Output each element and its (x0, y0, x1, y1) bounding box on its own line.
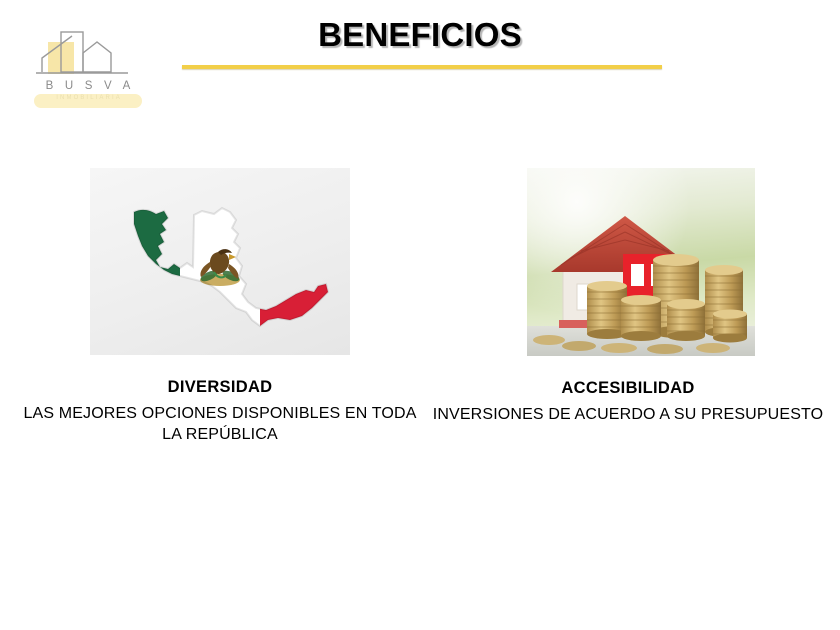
caption-body-diversidad: LAS MEJORES OPCIONES DISPONIBLES EN TODA… (22, 403, 418, 446)
busva-tagline-highlight: INMOBILIARIA (34, 94, 142, 108)
slide-title: BENEFICIOS (0, 16, 840, 54)
caption-accesibilidad: ACCESIBILIDAD INVERSIONES DE ACUERDO A S… (430, 379, 826, 425)
house-and-coins-image (527, 168, 755, 356)
caption-heading-accesibilidad: ACCESIBILIDAD (430, 379, 826, 398)
caption-body-accesibilidad: INVERSIONES DE ACUERDO A SU PRESUPUESTO (430, 404, 826, 425)
mexico-map-shape (90, 168, 350, 355)
busva-tagline: INMOBILIARIA (34, 95, 142, 101)
benefit-column-accesibilidad: ACCESIBILIDAD INVERSIONES DE ACUERDO A S… (430, 168, 826, 425)
house-model-and-coin-stacks (527, 168, 755, 356)
caption-heading-diversidad: DIVERSIDAD (22, 378, 418, 397)
title-underline-rule (182, 65, 662, 69)
benefit-column-diversidad: DIVERSIDAD LAS MEJORES OPCIONES DISPONIB… (22, 168, 418, 446)
busva-wordmark: B U S V A (28, 80, 148, 92)
mexico-map-flag-image (90, 168, 350, 355)
caption-diversidad: DIVERSIDAD LAS MEJORES OPCIONES DISPONIB… (22, 378, 418, 446)
